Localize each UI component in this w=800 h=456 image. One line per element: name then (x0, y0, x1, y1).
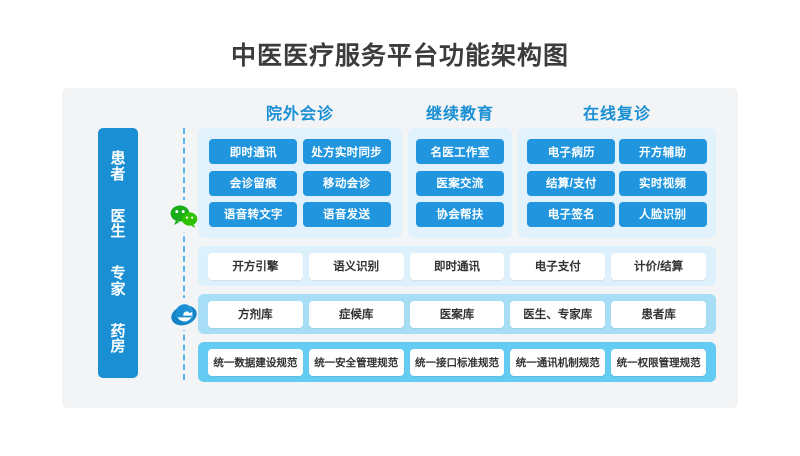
feature-chip[interactable]: 协会帮扶 (416, 202, 504, 227)
feature-chip[interactable]: 人脸识别 (619, 202, 707, 227)
feature-chip[interactable]: 电子病历 (527, 139, 615, 164)
architecture-diagram-page: 中医医疗服务平台功能架构图 患者 医生 专家 药房 (0, 0, 800, 456)
actor-item-patient[interactable]: 患者 (110, 151, 127, 183)
group-heading-outpatient-consult: 院外会诊 (198, 100, 402, 124)
feature-chip[interactable]: 名医工作室 (416, 139, 504, 164)
feature-groups: 即时通讯 处方实时同步 会诊留痕 移动会诊 语音转文字 语音发送 名医工作室 医… (198, 128, 716, 238)
band-chip[interactable]: 计价/结算 (611, 253, 706, 280)
band-chip[interactable]: 电子支付 (510, 253, 605, 280)
feature-chip[interactable]: 处方实时同步 (303, 139, 391, 164)
dashed-divider (183, 128, 185, 380)
diagram-container: 患者 医生 专家 药房 (62, 88, 738, 408)
band-chip[interactable]: 患者库 (611, 301, 706, 328)
band-chip[interactable]: 医生、专家库 (510, 301, 605, 328)
band-chip[interactable]: 医案库 (410, 301, 505, 328)
band-service-engine-layer: 开方引擎 语义识别 即时通讯 电子支付 计价/结算 (198, 246, 716, 286)
feature-chip[interactable]: 结算/支付 (527, 171, 615, 196)
feature-chip[interactable]: 开方辅助 (619, 139, 707, 164)
band-chip[interactable]: 统一通讯机制规范 (510, 349, 605, 376)
group-heading-online-revisit: 在线复诊 (518, 100, 716, 124)
group-heading-continuing-education: 继续教育 (408, 100, 512, 124)
group-panel-continuing-education: 名医工作室 医案交流 协会帮扶 (408, 128, 512, 238)
feature-chip[interactable]: 会诊留痕 (209, 171, 297, 196)
actor-bar: 患者 医生 专家 药房 (98, 128, 138, 378)
feature-chip[interactable]: 实时视频 (619, 171, 707, 196)
feature-chip[interactable]: 语音发送 (303, 202, 391, 227)
group-headings: 院外会诊 继续教育 在线复诊 (198, 100, 716, 126)
wechat-icon (168, 200, 200, 232)
band-chip[interactable]: 方剂库 (208, 301, 303, 328)
band-standards-layer: 统一数据建设规范 统一安全管理规范 统一接口标准规范 统一通讯机制规范 统一权限… (198, 342, 716, 382)
feature-chip[interactable]: 移动会诊 (303, 171, 391, 196)
actor-item-pharmacy[interactable]: 药房 (110, 324, 127, 356)
actor-item-doctor[interactable]: 医生 (110, 209, 127, 241)
band-chip[interactable]: 统一接口标准规范 (410, 349, 505, 376)
band-chip[interactable]: 统一数据建设规范 (208, 349, 303, 376)
band-chip[interactable]: 语义识别 (309, 253, 404, 280)
group-panel-online-revisit: 电子病历 开方辅助 结算/支付 实时视频 电子签名 人脸识别 (518, 128, 716, 238)
band-chip[interactable]: 统一权限管理规范 (611, 349, 706, 376)
band-data-repository-layer: 方剂库 症候库 医案库 医生、专家库 患者库 (198, 294, 716, 334)
band-chip[interactable]: 症候库 (309, 301, 404, 328)
feature-chip[interactable]: 语音转文字 (209, 202, 297, 227)
channel-connector (166, 128, 202, 380)
band-chip[interactable]: 开方引擎 (208, 253, 303, 280)
feature-chip[interactable]: 医案交流 (416, 171, 504, 196)
page-title: 中医医疗服务平台功能架构图 (0, 36, 800, 72)
internet-explorer-icon (168, 298, 200, 330)
band-chip[interactable]: 即时通讯 (410, 253, 505, 280)
feature-chip[interactable]: 即时通讯 (209, 139, 297, 164)
band-chip[interactable]: 统一安全管理规范 (309, 349, 404, 376)
group-panel-outpatient-consult: 即时通讯 处方实时同步 会诊留痕 移动会诊 语音转文字 语音发送 (198, 128, 402, 238)
feature-chip[interactable]: 电子签名 (527, 202, 615, 227)
actor-item-expert[interactable]: 专家 (110, 266, 127, 298)
